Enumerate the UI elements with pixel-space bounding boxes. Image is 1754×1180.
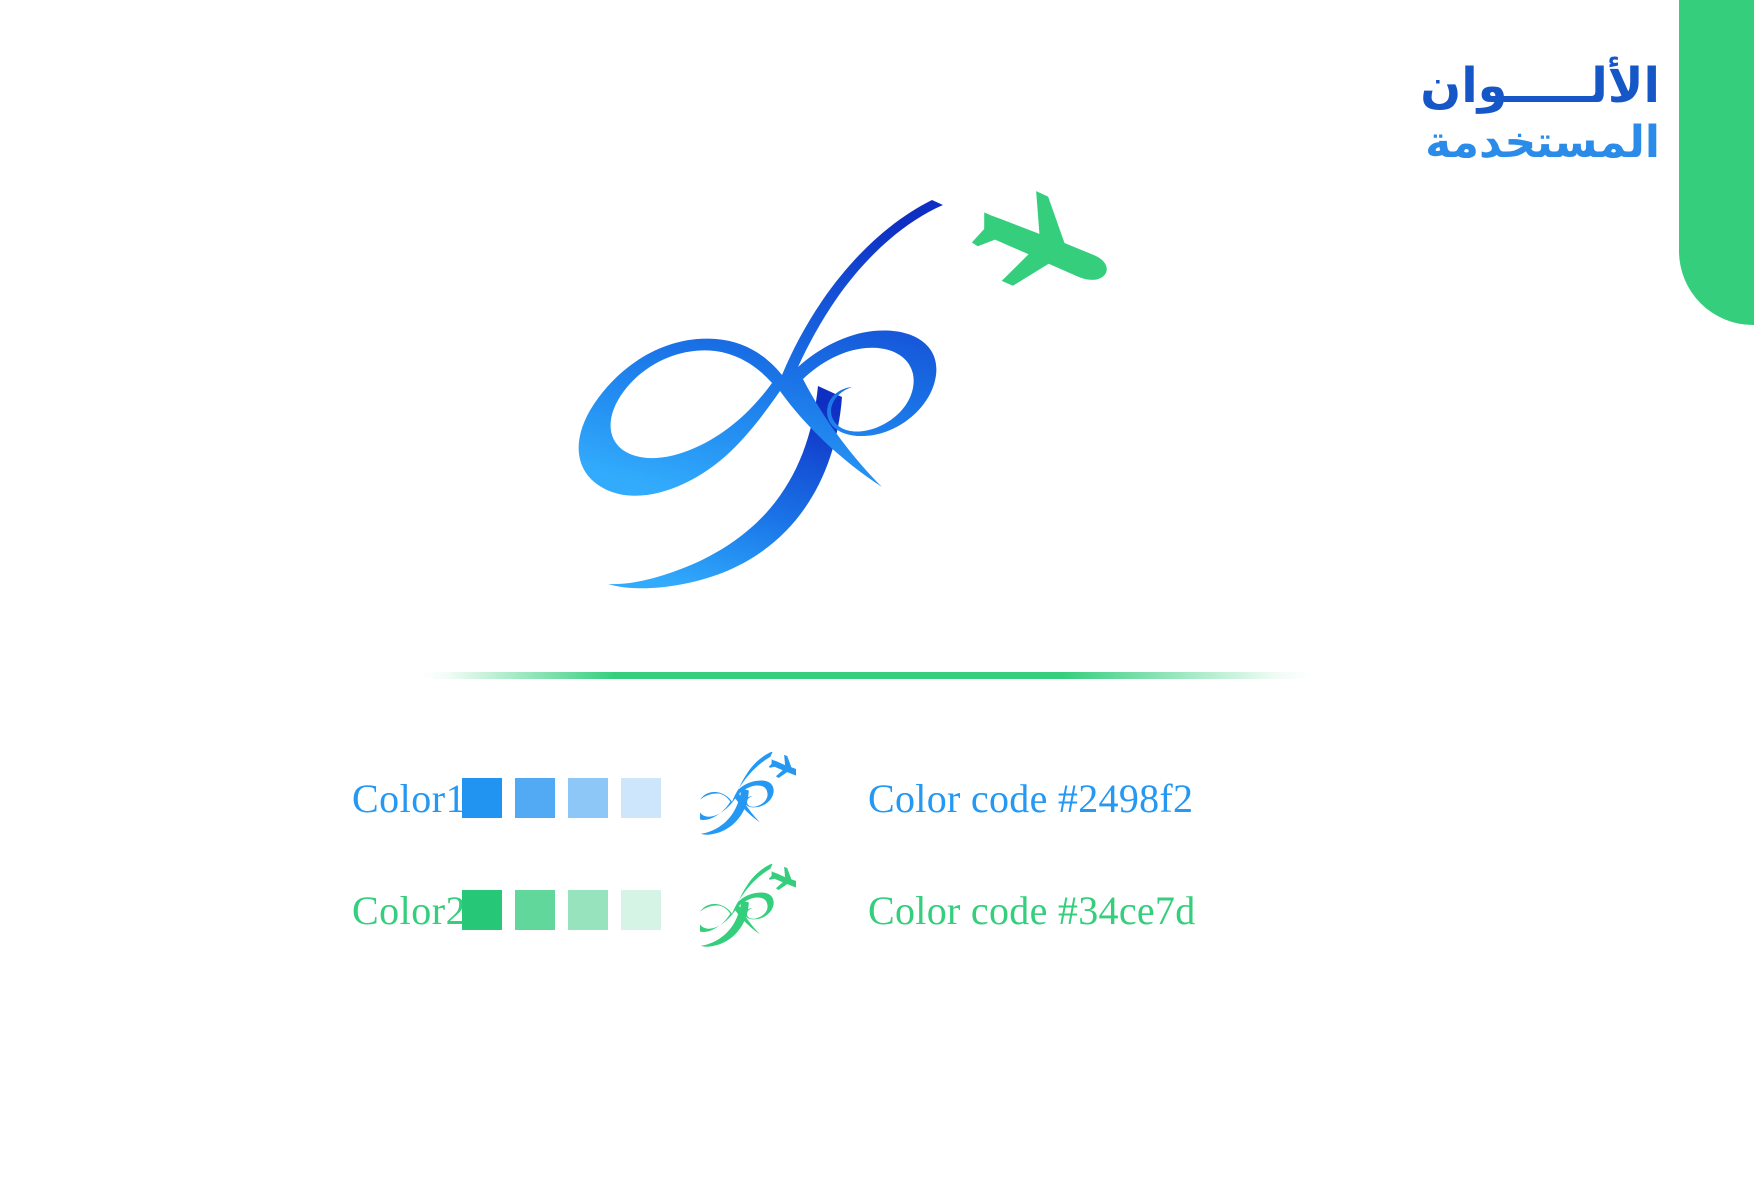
color-palette: Color1 Color code #2498f2 Color2 (0, 742, 1754, 966)
palette-row-label: Color2 (352, 887, 466, 934)
brand-mark-icon (700, 864, 796, 956)
color-swatch[interactable] (515, 778, 555, 818)
page-title-line-2: المستخدمة (1040, 117, 1660, 169)
palette-row-color1: Color1 Color code #2498f2 (0, 742, 1754, 854)
page-title: الألـــــوان المستخدمة (1040, 58, 1660, 169)
palette-row-color-code: Color code #34ce7d (868, 887, 1196, 934)
color-swatch[interactable] (462, 778, 502, 818)
color-swatch[interactable] (515, 890, 555, 930)
page-title-line-1: الألـــــوان (1040, 58, 1660, 115)
color-swatch[interactable] (621, 890, 661, 930)
hero-logo (560, 165, 1180, 615)
color-swatch[interactable] (568, 890, 608, 930)
airplane-icon (958, 172, 1124, 326)
brand-mark-icon (700, 752, 796, 844)
green-corner-tab (1679, 0, 1754, 325)
palette-swatches (462, 778, 674, 818)
palette-row-color-code: Color code #2498f2 (868, 775, 1193, 822)
ribbon-infinity-path (579, 200, 943, 496)
palette-swatches (462, 890, 674, 930)
color-swatch[interactable] (462, 890, 502, 930)
section-divider (420, 672, 1310, 679)
palette-row-label: Color1 (352, 775, 466, 822)
color-swatch[interactable] (621, 778, 661, 818)
palette-row-color2: Color2 Color code #34ce7d (0, 854, 1754, 966)
color-swatch[interactable] (568, 778, 608, 818)
